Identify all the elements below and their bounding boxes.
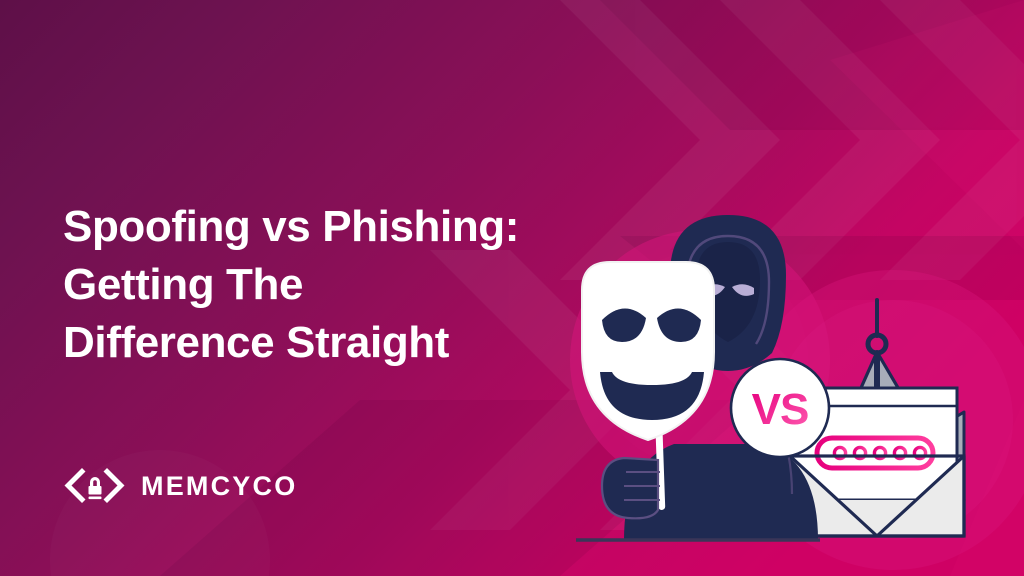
page-title: Spoofing vs Phishing: Getting The Differ… (63, 198, 623, 372)
logo-wordmark: MEMCYCO (141, 473, 297, 500)
headline-line-2: Getting The (63, 256, 623, 314)
headline-line-3: Difference Straight (63, 314, 623, 372)
headline-line-1: Spoofing vs Phishing: (63, 198, 623, 256)
gripping-hand (602, 458, 660, 518)
vs-badge: VS (731, 359, 829, 457)
lock-in-brackets-icon (63, 462, 127, 510)
memcyco-logo[interactable]: MEMCYCO (63, 462, 297, 510)
vs-badge-label: VS (752, 385, 809, 434)
banner-root: Spoofing vs Phishing: Getting The Differ… (0, 0, 1024, 576)
